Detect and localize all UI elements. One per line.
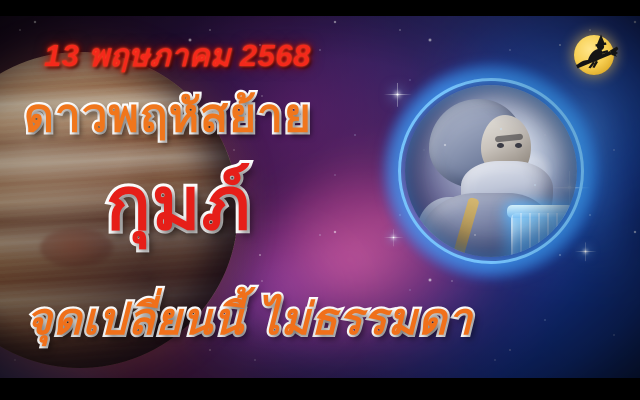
headline-line1: ดาวพฤหัสย้าย — [24, 92, 312, 138]
aquarius-medallion — [398, 78, 584, 264]
headline-main: กุมภ์ — [106, 167, 251, 241]
date-text: 13 พฤษภาคม 2568 — [44, 40, 311, 71]
star-flare-icon — [585, 251, 587, 253]
headline-line3: จุดเปลี่ยนนี้ ไม่ธรรมดา — [26, 298, 473, 342]
witch-on-broom-icon — [566, 29, 620, 83]
letterbox-top — [0, 0, 640, 16]
letterbox-bottom — [0, 378, 640, 400]
witch-on-broom-moon-logo[interactable] — [566, 29, 620, 83]
glowing-blue-ring — [398, 78, 584, 264]
thumbnail-canvas: 13 พฤษภาคม 2568 ดาวพฤหัสย้าย กุมภ์ จุดเป… — [0, 0, 640, 400]
star-flare-icon — [393, 237, 395, 239]
